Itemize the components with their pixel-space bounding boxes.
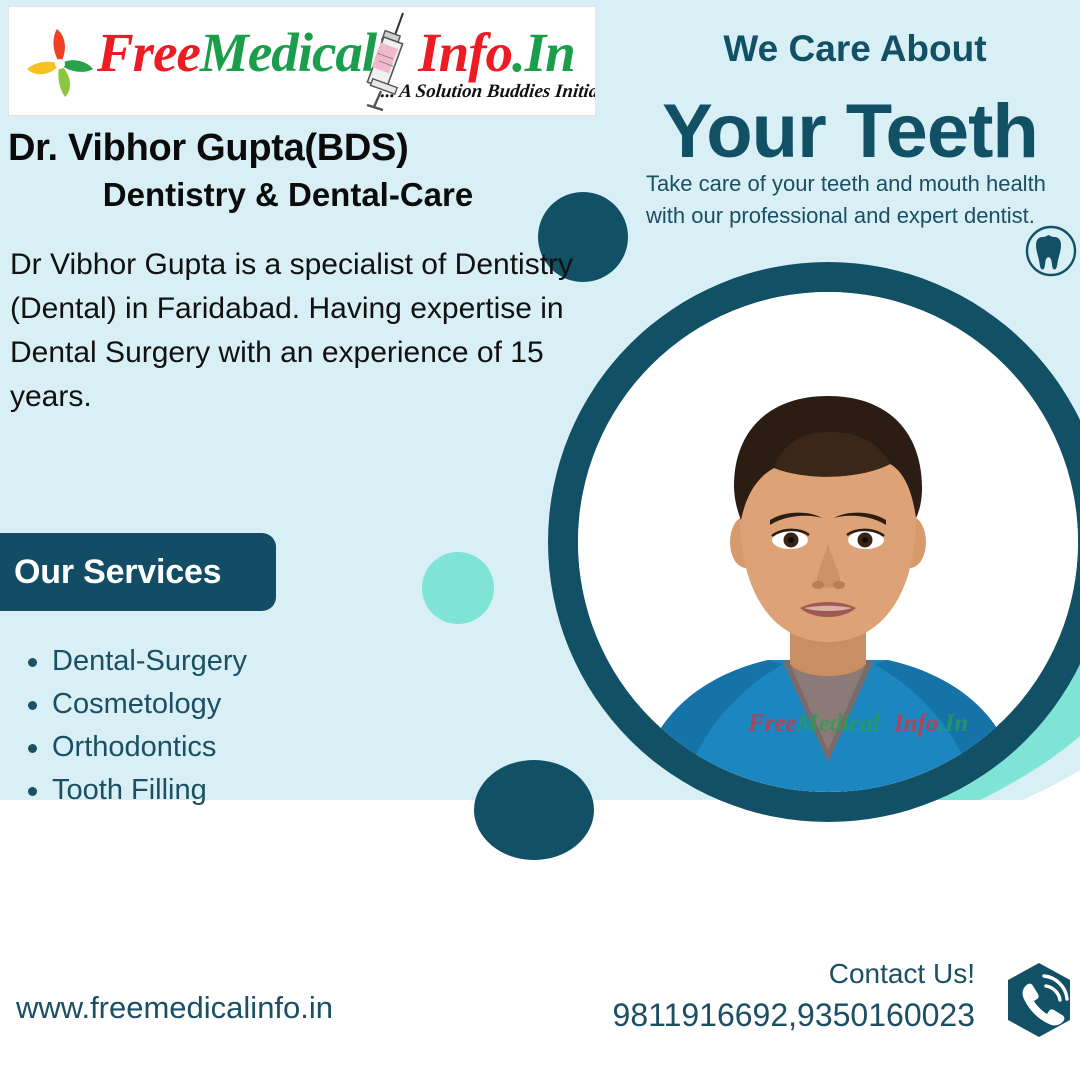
services-badge-label: Our Services [0,553,221,592]
services-badge: Our Services [0,533,276,611]
contact-phone-numbers[interactable]: 9811916692,9350160023 [600,997,975,1034]
photo-watermark: FreeMedicalInfo.In [748,710,968,738]
doctor-name: Dr. Vibhor Gupta(BDS) [8,127,568,170]
dental-promo-poster: FreeMedicalInfo.In ... A Solution Buddie… [0,0,1080,1080]
logo-word-medical: Medical [200,22,376,83]
list-item: Cosmetology [52,683,472,726]
doctor-specialty: Dentistry & Dental-Care [8,176,568,214]
tooth-icon [1024,224,1078,278]
watermark-medical: Medical [797,710,880,737]
phone-call-icon[interactable] [1000,960,1078,1040]
decorative-circle-dark-bottom [474,760,594,860]
services-list: Dental-Surgery Cosmetology Orthodontics … [16,640,472,812]
watermark-in: .In [938,710,968,737]
portrait-ring: FreeMedicalInfo.In [548,262,1080,822]
logo-word-info: Info [418,22,512,83]
logo-wordmark: FreeMedicalInfo.In [97,21,575,84]
headline-subtitle: Take care of your teeth and mouth health… [646,168,1066,232]
watermark-free: Free [748,710,797,737]
flower-pinwheel-icon [23,27,97,101]
portrait-frame: FreeMedicalInfo.In [578,292,1078,792]
headline-line-2: Your Teeth [620,88,1080,175]
logo-tagline: ... A Solution Buddies Initiative [380,81,596,103]
doctor-description: Dr Vibhor Gupta is a specialist of Denti… [10,243,600,419]
background-white-bottom [0,830,1080,1080]
logo-word-in: .In [512,22,575,83]
logo-word-free: Free [97,22,200,83]
headline-line-1: We Care About [640,28,1070,70]
watermark-info: Info [894,710,938,737]
list-item: Orthodontics [52,726,472,769]
contact-label: Contact Us! [700,958,975,990]
decorative-circle-mint [422,552,494,624]
list-item: Dental-Surgery [52,640,472,683]
list-item: Tooth Filling [52,769,472,812]
brand-logo[interactable]: FreeMedicalInfo.In ... A Solution Buddie… [8,6,596,116]
website-url[interactable]: www.freemedicalinfo.in [16,990,333,1026]
